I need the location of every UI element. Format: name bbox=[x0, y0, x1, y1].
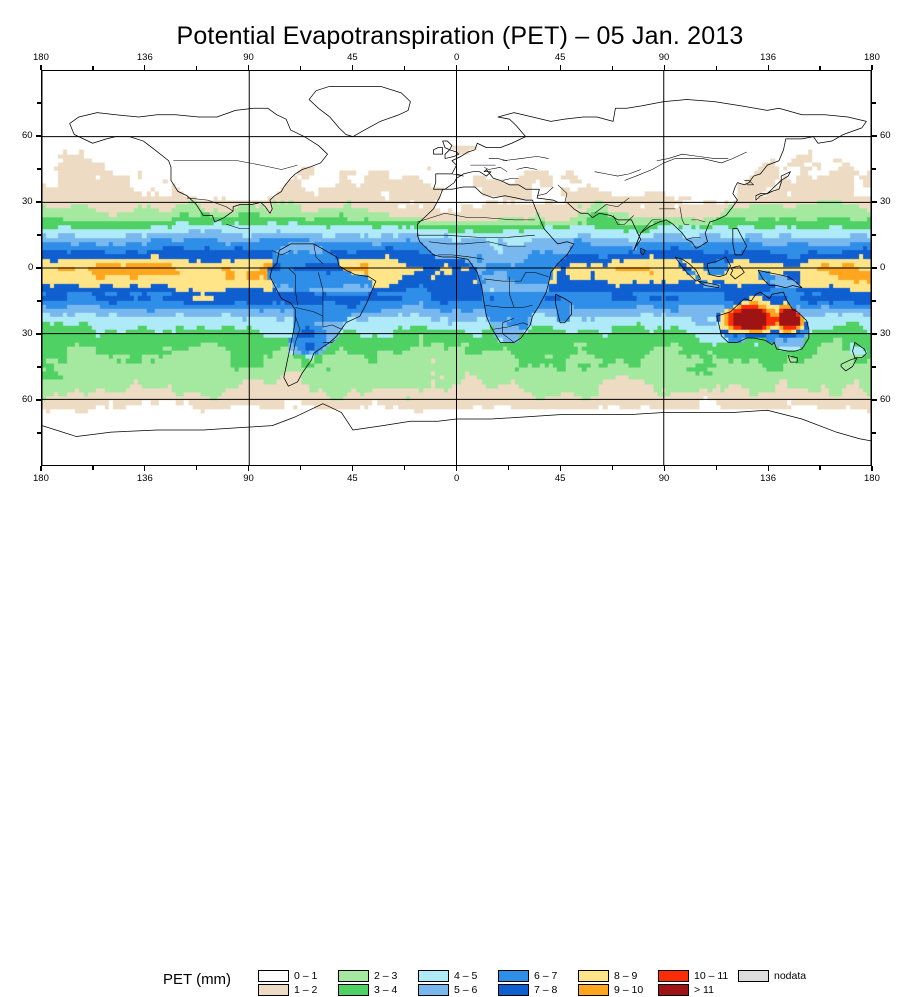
x-tick-bottom bbox=[40, 466, 41, 471]
x-tick-top bbox=[664, 65, 665, 70]
x-minor-tick bbox=[92, 66, 93, 70]
y-tick-right bbox=[872, 399, 877, 400]
legend-label: 4 – 5 bbox=[454, 970, 477, 982]
x-tick-bottom bbox=[456, 466, 457, 471]
x-tick-bottom bbox=[664, 466, 665, 471]
legend-swatch-nodata bbox=[738, 970, 769, 982]
x-minor-tick bbox=[508, 66, 509, 70]
legend-title: PET (mm) bbox=[163, 971, 231, 988]
legend-label: 5 – 6 bbox=[454, 984, 477, 996]
x-tick-top bbox=[560, 65, 561, 70]
pet-map-figure: Potential Evapotranspiration (PET) – 05 … bbox=[0, 0, 920, 539]
legend-entry: > 11 bbox=[658, 983, 728, 996]
y-minor-tick bbox=[872, 366, 876, 367]
y-minor-tick bbox=[37, 300, 41, 301]
legend-entry: 2 – 3 bbox=[338, 969, 397, 982]
x-tick-bottom bbox=[871, 466, 872, 471]
legend-label: 0 – 1 bbox=[294, 970, 317, 982]
y-tick-left bbox=[36, 399, 41, 400]
legend-entry: 10 – 11 bbox=[658, 969, 728, 982]
x-tick-bottom bbox=[560, 466, 561, 471]
x-minor-tick bbox=[612, 66, 613, 70]
y-minor-tick bbox=[872, 234, 876, 235]
legend-swatch bbox=[658, 984, 689, 996]
legend-entry: 8 – 9 bbox=[578, 969, 643, 982]
legend-swatch bbox=[418, 970, 449, 982]
y-axis-label-right: 0 bbox=[880, 262, 885, 273]
legend-entry: 3 – 4 bbox=[338, 983, 397, 996]
y-axis-label-left: 0 bbox=[28, 262, 33, 273]
y-axis-label-left: 60 bbox=[22, 394, 33, 405]
legend-label: 6 – 7 bbox=[534, 970, 557, 982]
x-minor-tick bbox=[508, 466, 509, 470]
legend-swatch bbox=[338, 984, 369, 996]
y-tick-right bbox=[872, 333, 877, 334]
x-axis-label-top: 136 bbox=[760, 52, 776, 63]
x-minor-tick bbox=[300, 466, 301, 470]
y-axis-label-right: 30 bbox=[880, 328, 891, 339]
x-tick-bottom bbox=[144, 466, 145, 471]
legend-label-nodata: nodata bbox=[774, 970, 806, 982]
legend-label: > 11 bbox=[694, 984, 714, 996]
x-tick-top bbox=[768, 65, 769, 70]
y-tick-left bbox=[36, 201, 41, 202]
y-minor-tick bbox=[37, 366, 41, 367]
legend-entry: 0 – 1 bbox=[258, 969, 317, 982]
y-tick-right bbox=[872, 135, 877, 136]
legend-entry: 6 – 7 bbox=[498, 969, 557, 982]
legend-label: 1 – 2 bbox=[294, 984, 317, 996]
y-axis-label-left: 30 bbox=[22, 196, 33, 207]
y-axis-label-right: 60 bbox=[880, 394, 891, 405]
legend-label: 7 – 8 bbox=[534, 984, 557, 996]
legend-entry: 7 – 8 bbox=[498, 983, 557, 996]
y-minor-tick bbox=[37, 432, 41, 433]
x-minor-tick bbox=[196, 466, 197, 470]
y-axis-label-right: 60 bbox=[880, 130, 891, 141]
legend-column-4: 8 – 99 – 10 bbox=[578, 969, 643, 997]
x-axis-label-top: 0 bbox=[454, 52, 459, 63]
legend-swatch bbox=[658, 970, 689, 982]
legend-swatch bbox=[258, 984, 289, 996]
y-minor-tick bbox=[872, 300, 876, 301]
y-tick-right bbox=[872, 201, 877, 202]
legend-swatch bbox=[578, 970, 609, 982]
x-tick-bottom bbox=[768, 466, 769, 471]
x-tick-bottom bbox=[248, 466, 249, 471]
x-minor-tick bbox=[404, 466, 405, 470]
x-tick-bottom bbox=[352, 466, 353, 471]
legend-swatch bbox=[578, 984, 609, 996]
legend-label: 9 – 10 bbox=[614, 984, 643, 996]
legend-swatch bbox=[258, 970, 289, 982]
y-minor-tick bbox=[872, 432, 876, 433]
x-minor-tick bbox=[404, 66, 405, 70]
legend: PET (mm) 0 – 11 – 22 – 33 – 44 – 55 – 66… bbox=[0, 482, 920, 524]
y-minor-tick bbox=[37, 234, 41, 235]
legend-entry: 5 – 6 bbox=[418, 983, 477, 996]
legend-swatch bbox=[498, 970, 529, 982]
x-axis-label-top: 136 bbox=[137, 52, 153, 63]
legend-column-0: 0 – 11 – 2 bbox=[258, 969, 317, 997]
page-title: Potential Evapotranspiration (PET) – 05 … bbox=[0, 22, 920, 51]
y-tick-left bbox=[36, 135, 41, 136]
x-axis-label-top: 45 bbox=[347, 52, 358, 63]
x-minor-tick bbox=[612, 466, 613, 470]
y-tick-left bbox=[36, 267, 41, 268]
legend-entry: 9 – 10 bbox=[578, 983, 643, 996]
x-axis-label-top: 90 bbox=[243, 52, 254, 63]
legend-column-2: 4 – 55 – 6 bbox=[418, 969, 477, 997]
x-axis-label-top: 180 bbox=[33, 52, 49, 63]
x-minor-tick bbox=[196, 66, 197, 70]
y-minor-tick bbox=[37, 168, 41, 169]
y-tick-left bbox=[36, 333, 41, 334]
x-minor-tick bbox=[819, 66, 820, 70]
legend-column-1: 2 – 33 – 4 bbox=[338, 969, 397, 997]
y-axis-label-left: 60 bbox=[22, 130, 33, 141]
y-minor-tick bbox=[872, 102, 876, 103]
x-tick-top bbox=[248, 65, 249, 70]
x-axis-label-top: 180 bbox=[864, 52, 880, 63]
y-minor-tick bbox=[872, 168, 876, 169]
x-minor-tick bbox=[716, 466, 717, 470]
legend-column-5: 10 – 11> 11 bbox=[658, 969, 728, 997]
legend-label: 10 – 11 bbox=[694, 970, 728, 982]
x-minor-tick bbox=[92, 466, 93, 470]
legend-swatch bbox=[338, 970, 369, 982]
legend-entry-nodata: nodata bbox=[738, 969, 806, 982]
x-tick-top bbox=[144, 65, 145, 70]
legend-swatch bbox=[498, 984, 529, 996]
legend-column-nodata: nodata bbox=[738, 969, 806, 983]
x-axis-label-top: 45 bbox=[555, 52, 566, 63]
x-minor-tick bbox=[300, 66, 301, 70]
x-minor-tick bbox=[716, 66, 717, 70]
x-minor-tick bbox=[819, 466, 820, 470]
x-tick-top bbox=[871, 65, 872, 70]
y-minor-tick bbox=[37, 102, 41, 103]
y-axis-label-left: 30 bbox=[22, 328, 33, 339]
legend-entry: 1 – 2 bbox=[258, 983, 317, 996]
x-tick-top bbox=[40, 65, 41, 70]
x-axis-label-top: 90 bbox=[659, 52, 670, 63]
legend-column-3: 6 – 77 – 8 bbox=[498, 969, 557, 997]
y-tick-right bbox=[872, 267, 877, 268]
legend-label: 8 – 9 bbox=[614, 970, 637, 982]
legend-entry: 4 – 5 bbox=[418, 969, 477, 982]
x-tick-top bbox=[352, 65, 353, 70]
legend-label: 2 – 3 bbox=[374, 970, 397, 982]
map-plot-area bbox=[41, 70, 872, 466]
legend-swatch bbox=[418, 984, 449, 996]
x-tick-top bbox=[456, 65, 457, 70]
pet-raster-layer bbox=[42, 71, 871, 465]
legend-label: 3 – 4 bbox=[374, 984, 397, 996]
y-axis-label-right: 30 bbox=[880, 196, 891, 207]
